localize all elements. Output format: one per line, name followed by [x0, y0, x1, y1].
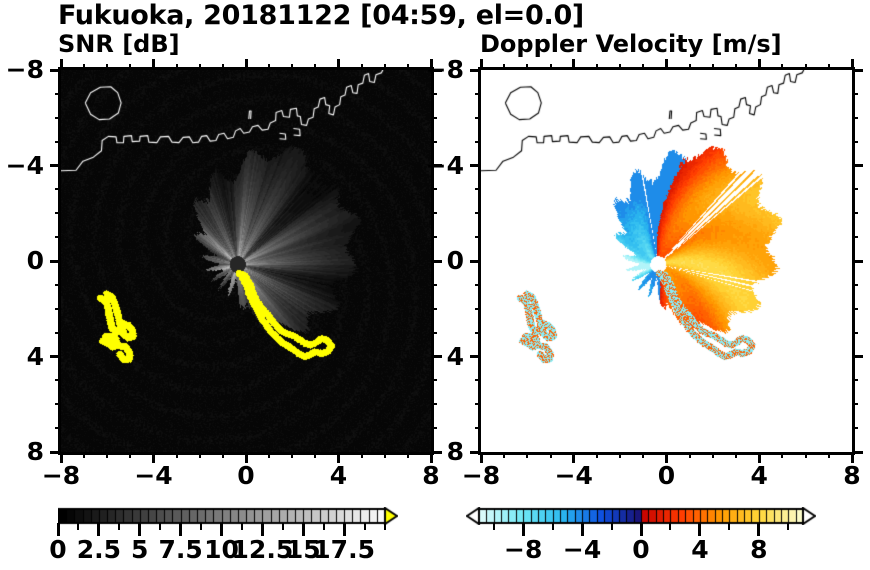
y-tick-label: −4 [0, 153, 44, 178]
y-tick-label: 8 [0, 439, 44, 464]
y-tick-label: 0 [0, 248, 44, 273]
panel-title-snr: SNR [dB] [58, 32, 180, 56]
snr-colorbar-gradient [58, 507, 398, 525]
y-tick-label: −8 [0, 57, 44, 82]
x-tick-label: −8 [21, 463, 101, 488]
plot-panel-snr[interactable] [58, 67, 434, 455]
y-tick-label: 4 [418, 344, 464, 369]
page-title: Fukuoka, 20181122 [04:59, el=0.0] [58, 2, 584, 29]
x-tick-label: −4 [114, 463, 194, 488]
panel-title-doppler: Doppler Velocity [m/s] [480, 32, 782, 56]
y-tick-label: −4 [418, 153, 464, 178]
x-tick-label: 8 [812, 463, 870, 488]
snr-colorbar[interactable] [58, 507, 398, 525]
y-tick-label: 0 [418, 248, 464, 273]
y-tick-label: 4 [0, 344, 44, 369]
snr-ppi-image [61, 70, 431, 452]
y-tick-label: −8 [418, 57, 464, 82]
colorbar-tick-label: 17.5 [304, 537, 384, 562]
x-tick-label: −4 [534, 463, 614, 488]
x-tick-label: −8 [441, 463, 521, 488]
x-tick-label: 4 [299, 463, 379, 488]
x-tick-label: 4 [719, 463, 799, 488]
y-tick-label: 8 [418, 439, 464, 464]
plot-panel-doppler[interactable] [478, 67, 855, 455]
x-tick-label: 0 [627, 463, 707, 488]
x-tick-label: 0 [206, 463, 286, 488]
doppler-ppi-image [481, 70, 852, 452]
colorbar-tick-label: 8 [719, 537, 799, 562]
